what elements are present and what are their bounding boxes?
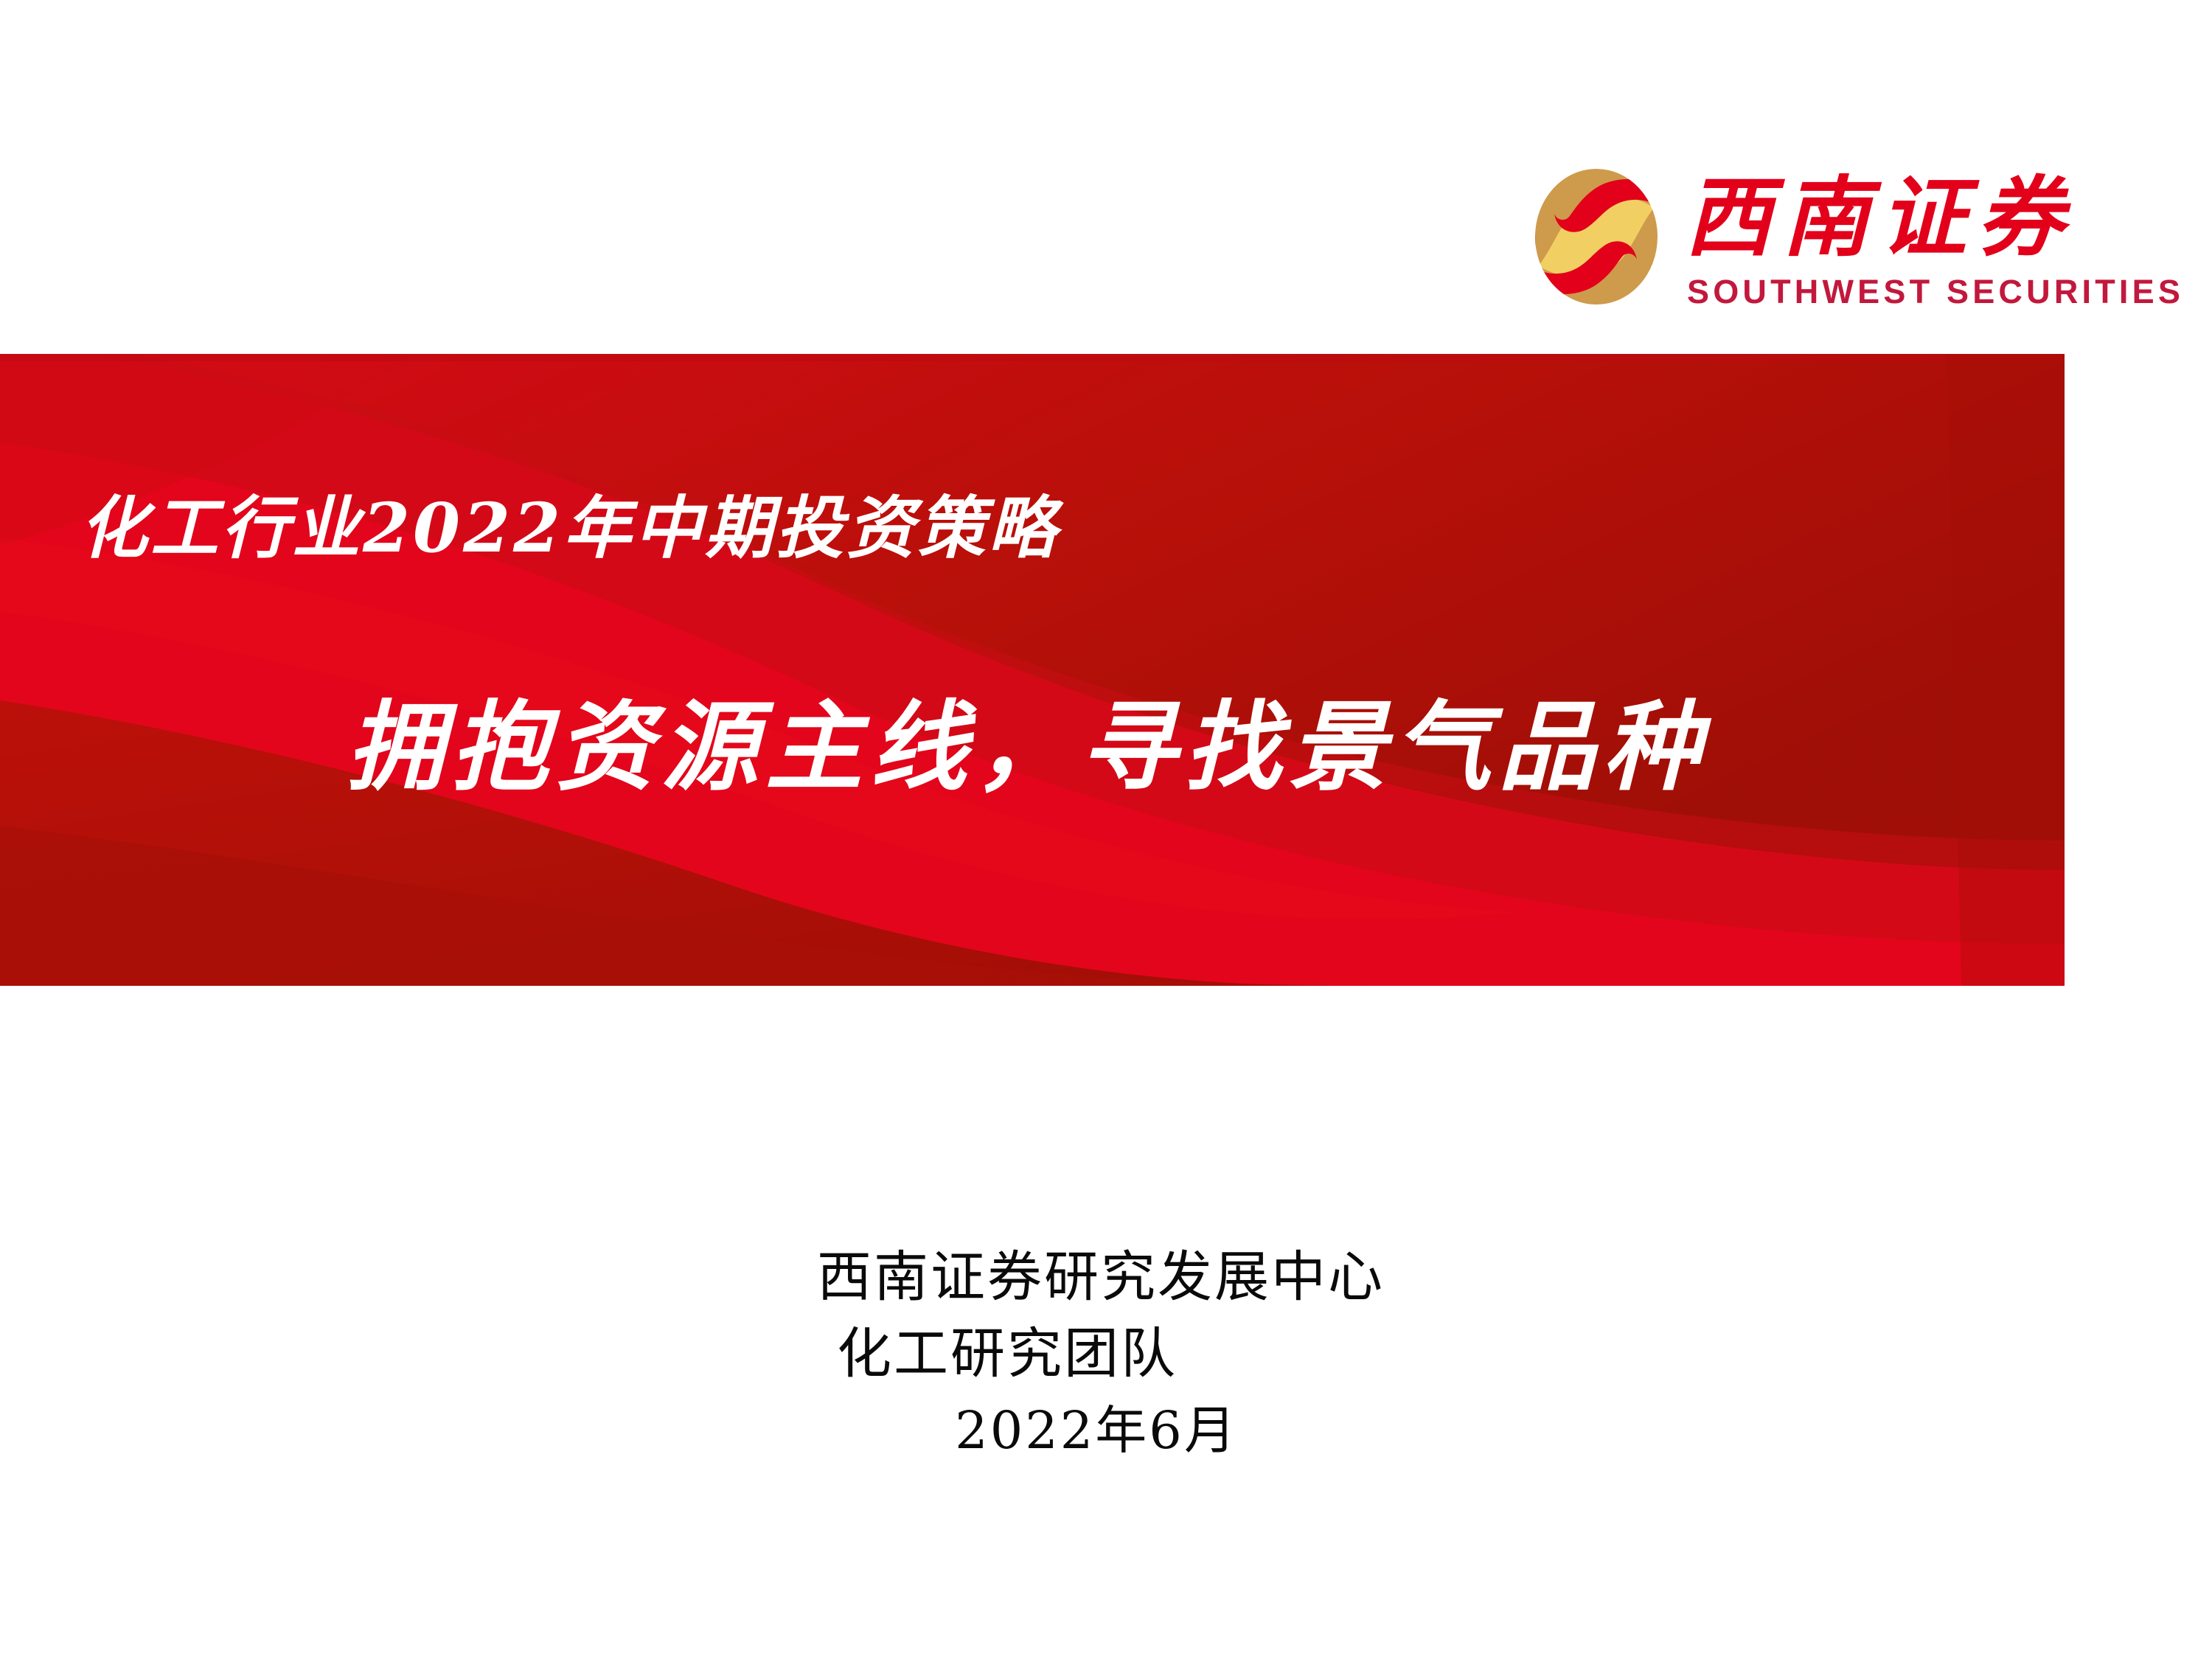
company-logo: 西南证券 SOUTHWEST SECURITIES (1526, 161, 2138, 319)
footer-date: 2022年6月 (0, 1392, 2212, 1469)
footer-organization: 西南证券研究发展中心 (0, 1239, 2212, 1315)
banner-subtitle: 化工行业2022年中期投资策略 (80, 494, 1059, 562)
title-banner: 化工行业2022年中期投资策略 拥抱资源主线，寻找景气品种 (0, 354, 2065, 986)
logo-wordmark-chinese: 西南证券 (1685, 162, 2127, 273)
banner-main-title: 拥抱资源主线，寻找景气品种 (347, 699, 1708, 796)
presenter-info: 西南证券研究发展中心 化工研究团队 2022年6月 (0, 1239, 2212, 1469)
logo-wordmark-english: SOUTHWEST SECURITIES (1687, 273, 2184, 311)
southwest-securities-swirl-mark-icon (1534, 167, 1659, 307)
banner-background-graphic (0, 354, 2065, 986)
footer-team: 化工研究团队 (0, 1315, 2212, 1392)
